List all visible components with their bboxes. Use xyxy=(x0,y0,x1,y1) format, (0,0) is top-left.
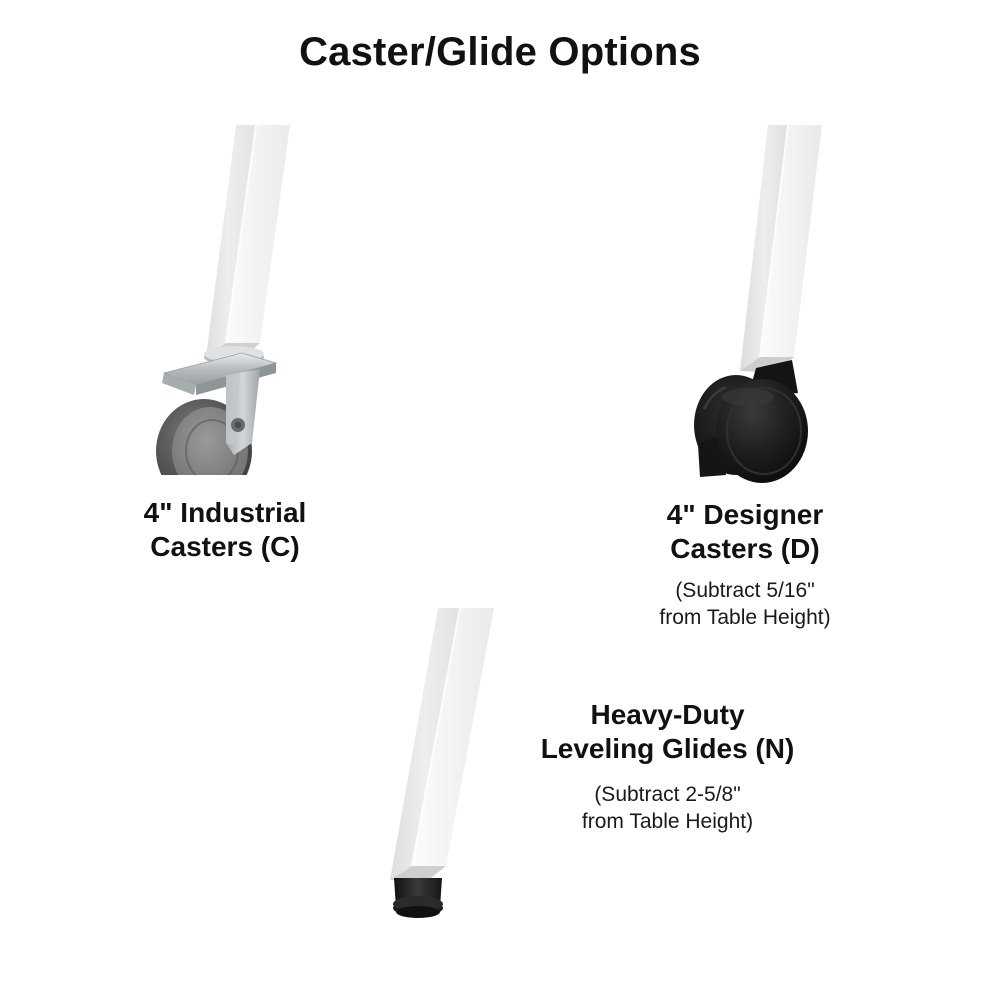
designer-caster-top-highlight xyxy=(722,388,774,406)
caption-line-2: Casters (C) xyxy=(55,530,395,564)
caption-line-1: Heavy-Duty xyxy=(500,698,835,732)
caption-note-line-1: (Subtract 5/16" xyxy=(600,578,890,604)
designer-caster-illustration xyxy=(670,125,860,485)
caster-axle-center xyxy=(235,422,241,428)
diagram-canvas: Caster/Glide Options xyxy=(0,0,1000,1000)
caption-designer-casters: 4" Designer Casters (D) (Subtract 5/16" … xyxy=(600,498,890,631)
caption-line-2: Casters (D) xyxy=(600,532,890,566)
leveling-glide-foot-pad xyxy=(396,906,440,918)
caption-line-1: 4" Industrial xyxy=(55,496,395,530)
caption-leveling-glides: Heavy-Duty Leveling Glides (N) (Subtract… xyxy=(500,698,835,835)
caption-note-line-1: (Subtract 2-5/8" xyxy=(500,782,835,808)
leveling-glide-illustration xyxy=(360,608,500,928)
page-title: Caster/Glide Options xyxy=(0,30,1000,75)
caption-note-line-2: from Table Height) xyxy=(600,605,890,631)
caption-note-line-2: from Table Height) xyxy=(500,809,835,835)
caption-industrial-casters: 4" Industrial Casters (C) xyxy=(55,496,395,564)
caption-line-1: 4" Designer xyxy=(600,498,890,532)
industrial-caster-illustration xyxy=(130,125,350,475)
caption-line-2: Leveling Glides (N) xyxy=(500,732,835,766)
